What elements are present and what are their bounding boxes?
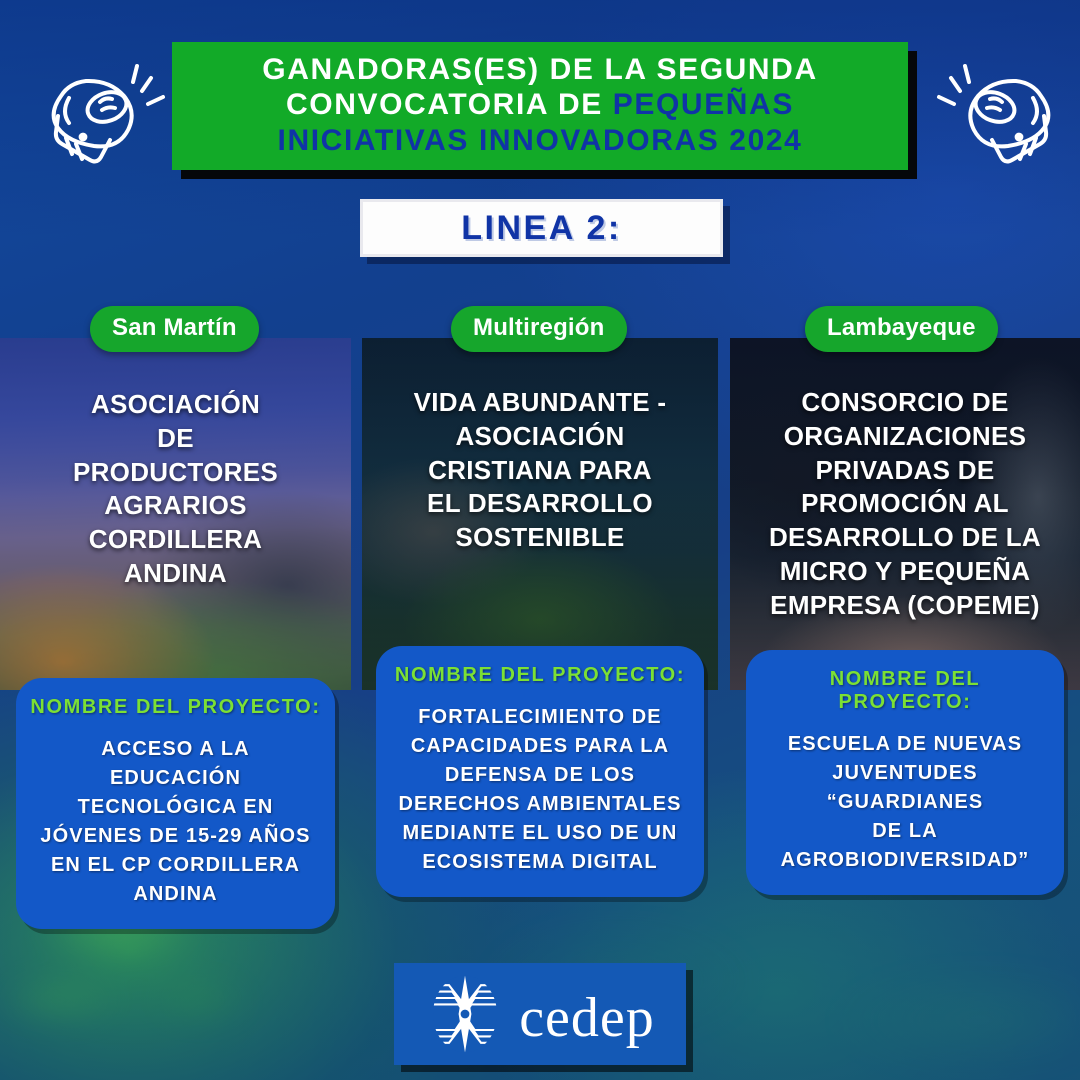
linea-banner: LINEA 2: — [360, 199, 723, 257]
footer-logo: cedep — [394, 963, 686, 1065]
region-badge: Lambayeque — [805, 306, 998, 352]
organization-name: VIDA ABUNDANTE - ASOCIACIÓN CRISTIANA PA… — [362, 386, 718, 555]
title-line-2-white: CONVOCATORIA DE — [286, 88, 613, 121]
project-title: ACCESO A LA EDUCACIÓN TECNOLÓGICA EN JÓV… — [30, 735, 321, 909]
project-card: NOMBRE DEL PROYECTO: FORTALECIMIENTO DE … — [376, 646, 704, 897]
project-title: ESCUELA DE NUEVAS JUVENTUDES “GUARDIANES… — [760, 730, 1050, 875]
project-card: NOMBRE DEL PROYECTO: ACCESO A LA EDUCACI… — [16, 678, 335, 929]
title-line-1: GANADORAS(ES) DE LA SEGUNDA — [262, 52, 817, 87]
project-title: FORTALECIMIENTO DE CAPACIDADES PARA LA D… — [390, 703, 690, 877]
cedep-wordmark: cedep — [519, 990, 655, 1046]
linea-label: LINEA 2: — [461, 209, 621, 248]
project-label: NOMBRE DEL PROYECTO: — [760, 668, 1050, 714]
organization-name: ASOCIACIÓN DE PRODUCTORES AGRARIOS CORDI… — [0, 388, 351, 591]
megaphone-icon — [934, 58, 1064, 178]
project-label: NOMBRE DEL PROYECTO: — [390, 664, 690, 687]
project-card: NOMBRE DEL PROYECTO: ESCUELA DE NUEVAS J… — [746, 650, 1064, 895]
region-badge: Multiregión — [451, 306, 627, 352]
project-label: NOMBRE DEL PROYECTO: — [30, 696, 321, 719]
megaphone-icon — [38, 58, 168, 178]
organization-name: CONSORCIO DE ORGANIZACIONES PRIVADAS DE … — [730, 386, 1080, 623]
header: GANADORAS(ES) DE LA SEGUNDA CONVOCATORIA… — [0, 28, 1080, 178]
cedep-emblem-icon — [425, 974, 505, 1054]
title-line-2-highlight: PEQUEÑAS — [613, 88, 794, 121]
title-banner: GANADORAS(ES) DE LA SEGUNDA CONVOCATORIA… — [172, 42, 908, 170]
title-line-2: CONVOCATORIA DE PEQUEÑAS — [286, 87, 794, 122]
region-badge: San Martín — [90, 306, 259, 352]
title-line-3: INICIATIVAS INNOVADORAS 2024 — [278, 123, 803, 158]
